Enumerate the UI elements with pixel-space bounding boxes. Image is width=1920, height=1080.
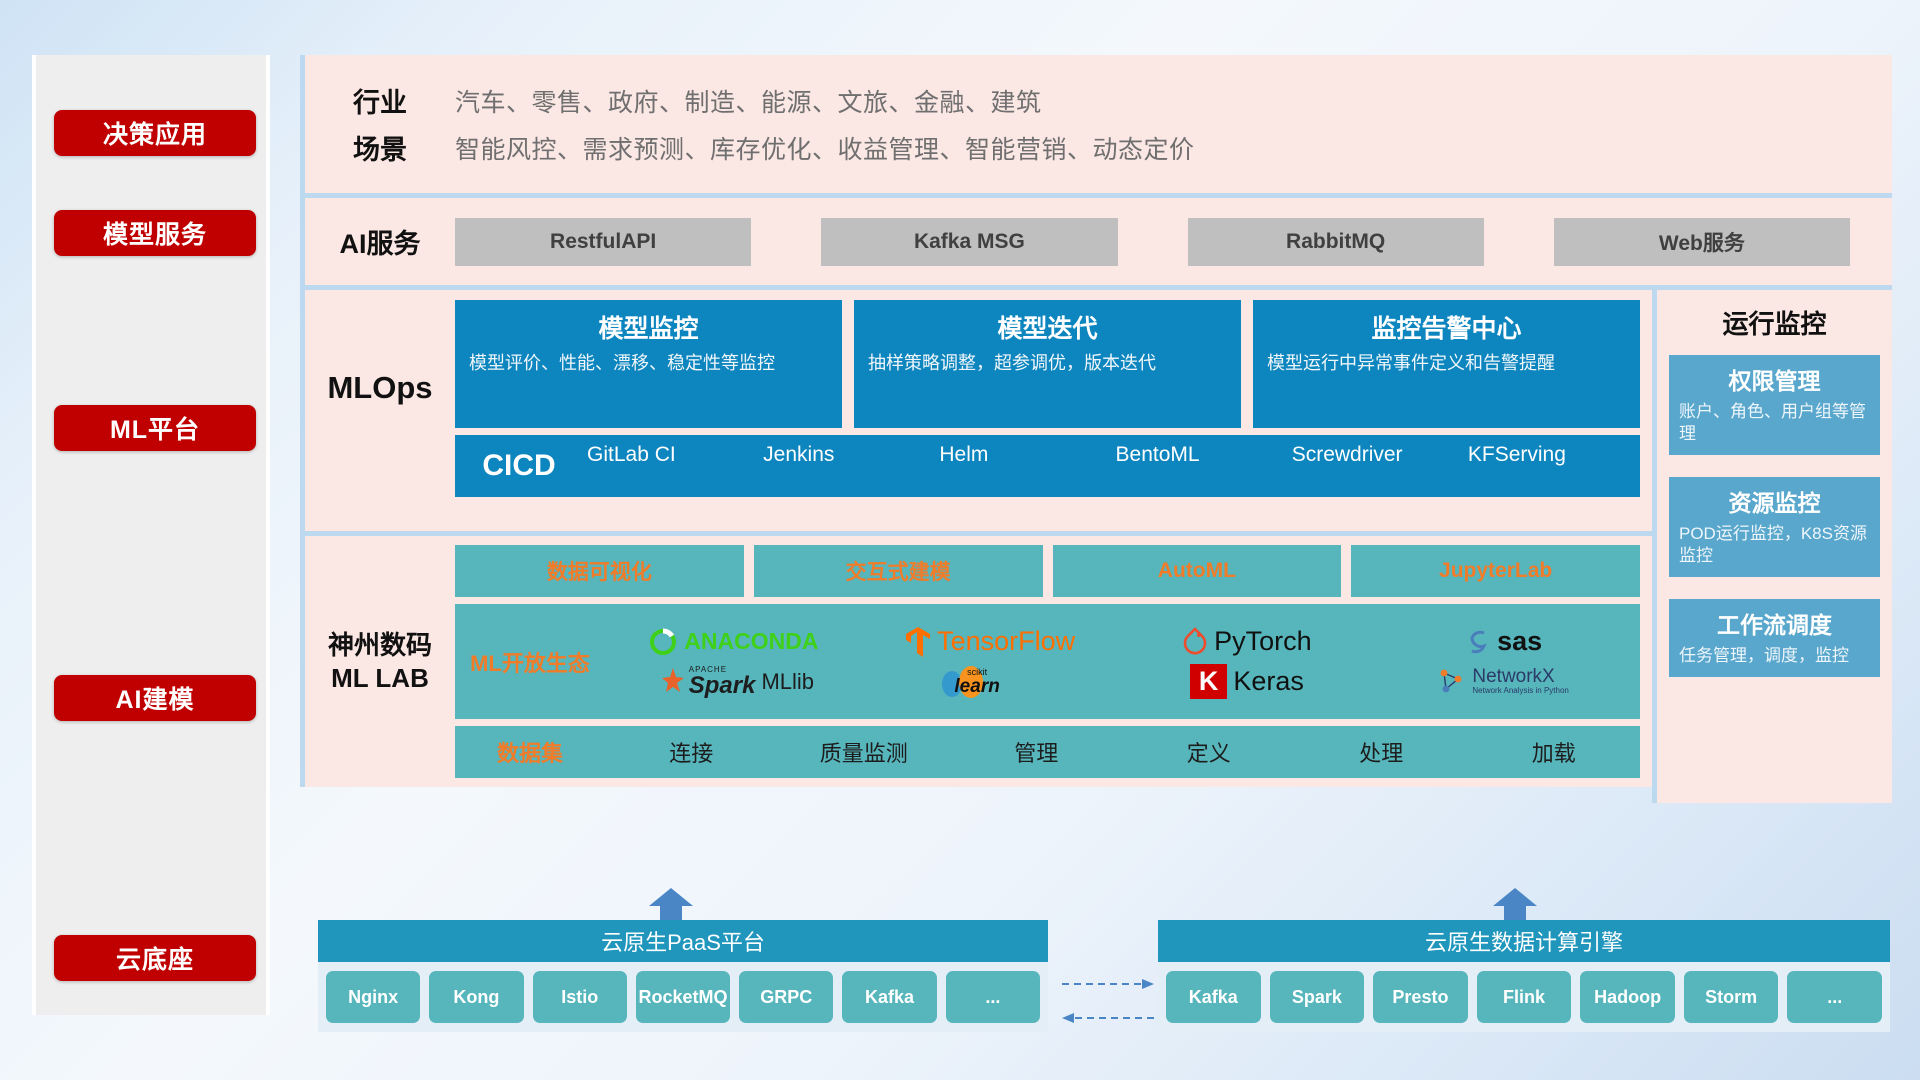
mlops-card-model-iteration[interactable]: 模型迭代 抽样策略调整，超参调优，版本迭代	[854, 300, 1241, 428]
monitor-card-workflow[interactable]: 工作流调度 任务管理，调度，监控	[1669, 599, 1880, 677]
card-title: 模型监控	[469, 309, 828, 345]
scenario-row: 场景 智能风控、需求预测、库存优化、收益管理、智能营销、动态定价	[305, 124, 1892, 171]
card-title: 监控告警中心	[1267, 309, 1626, 345]
keras-k-icon: K	[1190, 664, 1228, 699]
mllib-wordmark: MLlib	[761, 669, 814, 695]
card-desc: 模型运行中异常事件定义和告警提醒	[1267, 352, 1626, 375]
pytorch-logo: PyTorch	[1182, 626, 1312, 657]
bidirectional-dashed-link	[1060, 972, 1156, 1032]
card-title: 工作流调度	[1679, 606, 1870, 640]
mlops-card-model-monitoring[interactable]: 模型监控 模型评价、性能、漂移、稳定性等监控	[455, 300, 842, 428]
cicd-item[interactable]: GitLab CI	[583, 444, 759, 488]
networkx-logo: NetworkX Network Analysis in Python	[1438, 667, 1569, 697]
ml-lab-label-line1: 神州数码	[328, 630, 432, 660]
networkx-wordmark: NetworkX	[1472, 667, 1569, 687]
sas-logo: sas	[1465, 626, 1542, 657]
industry-value: 汽车、零售、政府、制造、能源、文旅、金融、建筑	[455, 83, 1042, 119]
tab-jupyterlab[interactable]: JupyterLab	[1351, 545, 1640, 597]
ml-lab-label-line2: ML LAB	[331, 663, 429, 693]
cicd-item[interactable]: BentoML	[1112, 444, 1288, 488]
networkx-icon	[1438, 667, 1466, 697]
cloud-base-layer: 云原生PaaS平台 Nginx Kong Istio RocketMQ GRPC…	[300, 898, 1892, 1058]
cloud-chip-more[interactable]: ...	[1787, 971, 1882, 1023]
spark-wordmark: Spark	[689, 674, 756, 698]
cloud-chip-storm[interactable]: Storm	[1684, 971, 1779, 1023]
cloud-chip-spark[interactable]: Spark	[1270, 971, 1365, 1023]
card-title: 权限管理	[1679, 362, 1870, 396]
cloud-chip-presto[interactable]: Presto	[1373, 971, 1468, 1023]
cicd-item[interactable]: Screwdriver	[1288, 444, 1464, 488]
ai-service-box[interactable]: Web服务	[1554, 218, 1850, 266]
cloud-paas-chip-list: Nginx Kong Istio RocketMQ GRPC Kafka ...	[318, 962, 1048, 1032]
cloud-chip-kafka[interactable]: Kafka	[1166, 971, 1261, 1023]
card-title: 资源监控	[1679, 484, 1870, 518]
sas-icon	[1465, 627, 1491, 657]
mlops-label: MLOps	[305, 290, 455, 531]
ml-ecosystem-row: ML开放生态 ANACONDA TensorFlow	[455, 604, 1640, 719]
stage-label: 模型服务	[103, 215, 207, 251]
monitor-card-permission[interactable]: 权限管理 账户、角色、用户组等管理	[1669, 355, 1880, 455]
runtime-monitor-panel: 运行监控 权限管理 账户、角色、用户组等管理 资源监控 POD运行监控，K8S资…	[1652, 285, 1892, 803]
ml-lab-tab-list: 数据可视化 交互式建模 AutoML JupyterLab	[455, 545, 1640, 597]
band-ai-service: AI服务 RestfulAPI Kafka MSG RabbitMQ Web服务	[300, 193, 1892, 285]
cloud-chip-istio[interactable]: Istio	[533, 971, 627, 1023]
cicd-title: CICD	[455, 449, 583, 483]
cloud-chip-grpc[interactable]: GRPC	[739, 971, 833, 1023]
architecture-main: 行业 汽车、零售、政府、制造、能源、文旅、金融、建筑 场景 智能风控、需求预测、…	[300, 55, 1892, 787]
cicd-item[interactable]: KFServing	[1464, 444, 1640, 488]
anaconda-wordmark: ANACONDA	[684, 628, 818, 655]
ai-service-box[interactable]: RabbitMQ	[1188, 218, 1484, 266]
tensorflow-icon	[905, 626, 931, 658]
tab-data-visualization[interactable]: 数据可视化	[455, 545, 744, 597]
ai-service-box[interactable]: RestfulAPI	[455, 218, 751, 266]
cloud-chip-kafka[interactable]: Kafka	[842, 971, 936, 1023]
sas-wordmark: sas	[1497, 626, 1542, 657]
ai-service-label: AI服务	[305, 222, 455, 261]
ml-ecosystem-label: ML开放生态	[455, 646, 605, 678]
networkx-tagline: Network Analysis in Python	[1472, 687, 1569, 695]
stage-rail: 决策应用 模型服务 ML平台 AI建模 云底座	[32, 55, 270, 1015]
cicd-item[interactable]: Helm	[935, 444, 1111, 488]
anaconda-icon	[648, 627, 678, 657]
stage-label: 云底座	[116, 940, 194, 976]
cloud-chip-more[interactable]: ...	[946, 971, 1040, 1023]
tab-interactive-modeling[interactable]: 交互式建模	[754, 545, 1043, 597]
dataset-row: 数据集 连接 质量监测 管理 定义 处理 加载	[455, 726, 1640, 778]
pytorch-icon	[1182, 627, 1208, 657]
dataset-label: 数据集	[455, 736, 605, 768]
card-desc: 任务管理，调度，监控	[1679, 645, 1870, 667]
stage-chip-cloud-base[interactable]: 云底座	[54, 935, 256, 981]
tab-automl[interactable]: AutoML	[1053, 545, 1342, 597]
stage-chip-model-service[interactable]: 模型服务	[54, 210, 256, 256]
card-desc: 账户、角色、用户组等管理	[1679, 401, 1870, 445]
scikit-learn-logo: scikit learn	[938, 662, 1041, 702]
cloud-chip-nginx[interactable]: Nginx	[326, 971, 420, 1023]
stage-label: ML平台	[110, 410, 200, 446]
cloud-chip-rocketmq[interactable]: RocketMQ	[636, 971, 730, 1023]
spark-star-icon	[653, 666, 683, 698]
industry-label: 行业	[305, 81, 455, 120]
dataset-item-connect[interactable]: 连接	[605, 736, 778, 768]
stage-label: AI建模	[115, 680, 194, 716]
dataset-item-define[interactable]: 定义	[1123, 736, 1296, 768]
keras-logo: K Keras	[1190, 664, 1304, 699]
cloud-paas-column: 云原生PaaS平台 Nginx Kong Istio RocketMQ GRPC…	[318, 920, 1048, 1032]
cloud-paas-title: 云原生PaaS平台	[318, 920, 1048, 962]
industry-row: 行业 汽车、零售、政府、制造、能源、文旅、金融、建筑	[305, 77, 1892, 124]
dataset-item-process[interactable]: 处理	[1295, 736, 1468, 768]
cloud-chip-flink[interactable]: Flink	[1477, 971, 1572, 1023]
stage-label: 决策应用	[103, 115, 207, 151]
cicd-item[interactable]: Jenkins	[759, 444, 935, 488]
keras-wordmark: Keras	[1233, 666, 1304, 697]
stage-chip-decision[interactable]: 决策应用	[54, 110, 256, 156]
runtime-monitor-title: 运行监控	[1669, 304, 1880, 341]
tensorflow-wordmark: TensorFlow	[937, 626, 1075, 657]
card-desc: 抽样策略调整，超参调优，版本迭代	[868, 352, 1227, 375]
cloud-data-engine-chip-list: Kafka Spark Presto Flink Hadoop Storm ..…	[1158, 962, 1890, 1032]
scenario-value: 智能风控、需求预测、库存优化、收益管理、智能营销、动态定价	[455, 130, 1195, 166]
ml-lab-label: 神州数码 ML LAB	[305, 536, 455, 787]
dataset-item-manage[interactable]: 管理	[950, 736, 1123, 768]
card-desc: 模型评价、性能、漂移、稳定性等监控	[469, 352, 828, 375]
cloud-chip-kong[interactable]: Kong	[429, 971, 523, 1023]
anaconda-logo: ANACONDA	[648, 627, 818, 657]
cloud-data-engine-title: 云原生数据计算引擎	[1158, 920, 1890, 962]
cloud-data-engine-column: 云原生数据计算引擎 Kafka Spark Presto Flink Hadoo…	[1158, 920, 1890, 1032]
card-title: 模型迭代	[868, 309, 1227, 345]
monitor-card-resource[interactable]: 资源监控 POD运行监控，K8S资源监控	[1669, 477, 1880, 577]
ml-ecosystem-logo-grid: ANACONDA TensorFlow PyTorch	[605, 622, 1640, 702]
spark-mllib-logo: APACHE Spark MLlib	[653, 666, 814, 698]
ai-service-box[interactable]: Kafka MSG	[821, 218, 1117, 266]
pytorch-wordmark: PyTorch	[1214, 626, 1312, 657]
mlops-card-list: 模型监控 模型评价、性能、漂移、稳定性等监控 模型迭代 抽样策略调整，超参调优，…	[455, 300, 1640, 428]
dataset-item-quality[interactable]: 质量监测	[778, 736, 951, 768]
stage-chip-ai-modeling[interactable]: AI建模	[54, 675, 256, 721]
cicd-bar: CICD GitLab CI Jenkins Helm BentoML Scre…	[455, 435, 1640, 497]
learn-text: learn	[954, 677, 999, 696]
mlops-card-alert-center[interactable]: 监控告警中心 模型运行中异常事件定义和告警提醒	[1253, 300, 1640, 428]
cloud-chip-hadoop[interactable]: Hadoop	[1580, 971, 1675, 1023]
tensorflow-logo: TensorFlow	[905, 626, 1075, 658]
dataset-item-load[interactable]: 加载	[1468, 736, 1641, 768]
card-desc: POD运行监控，K8S资源监控	[1679, 523, 1870, 567]
band-decision-applications: 行业 汽车、零售、政府、制造、能源、文旅、金融、建筑 场景 智能风控、需求预测、…	[300, 55, 1892, 193]
stage-chip-ml-platform[interactable]: ML平台	[54, 405, 256, 451]
ai-service-box-list: RestfulAPI Kafka MSG RabbitMQ Web服务	[455, 218, 1892, 266]
scenario-label: 场景	[305, 128, 455, 167]
